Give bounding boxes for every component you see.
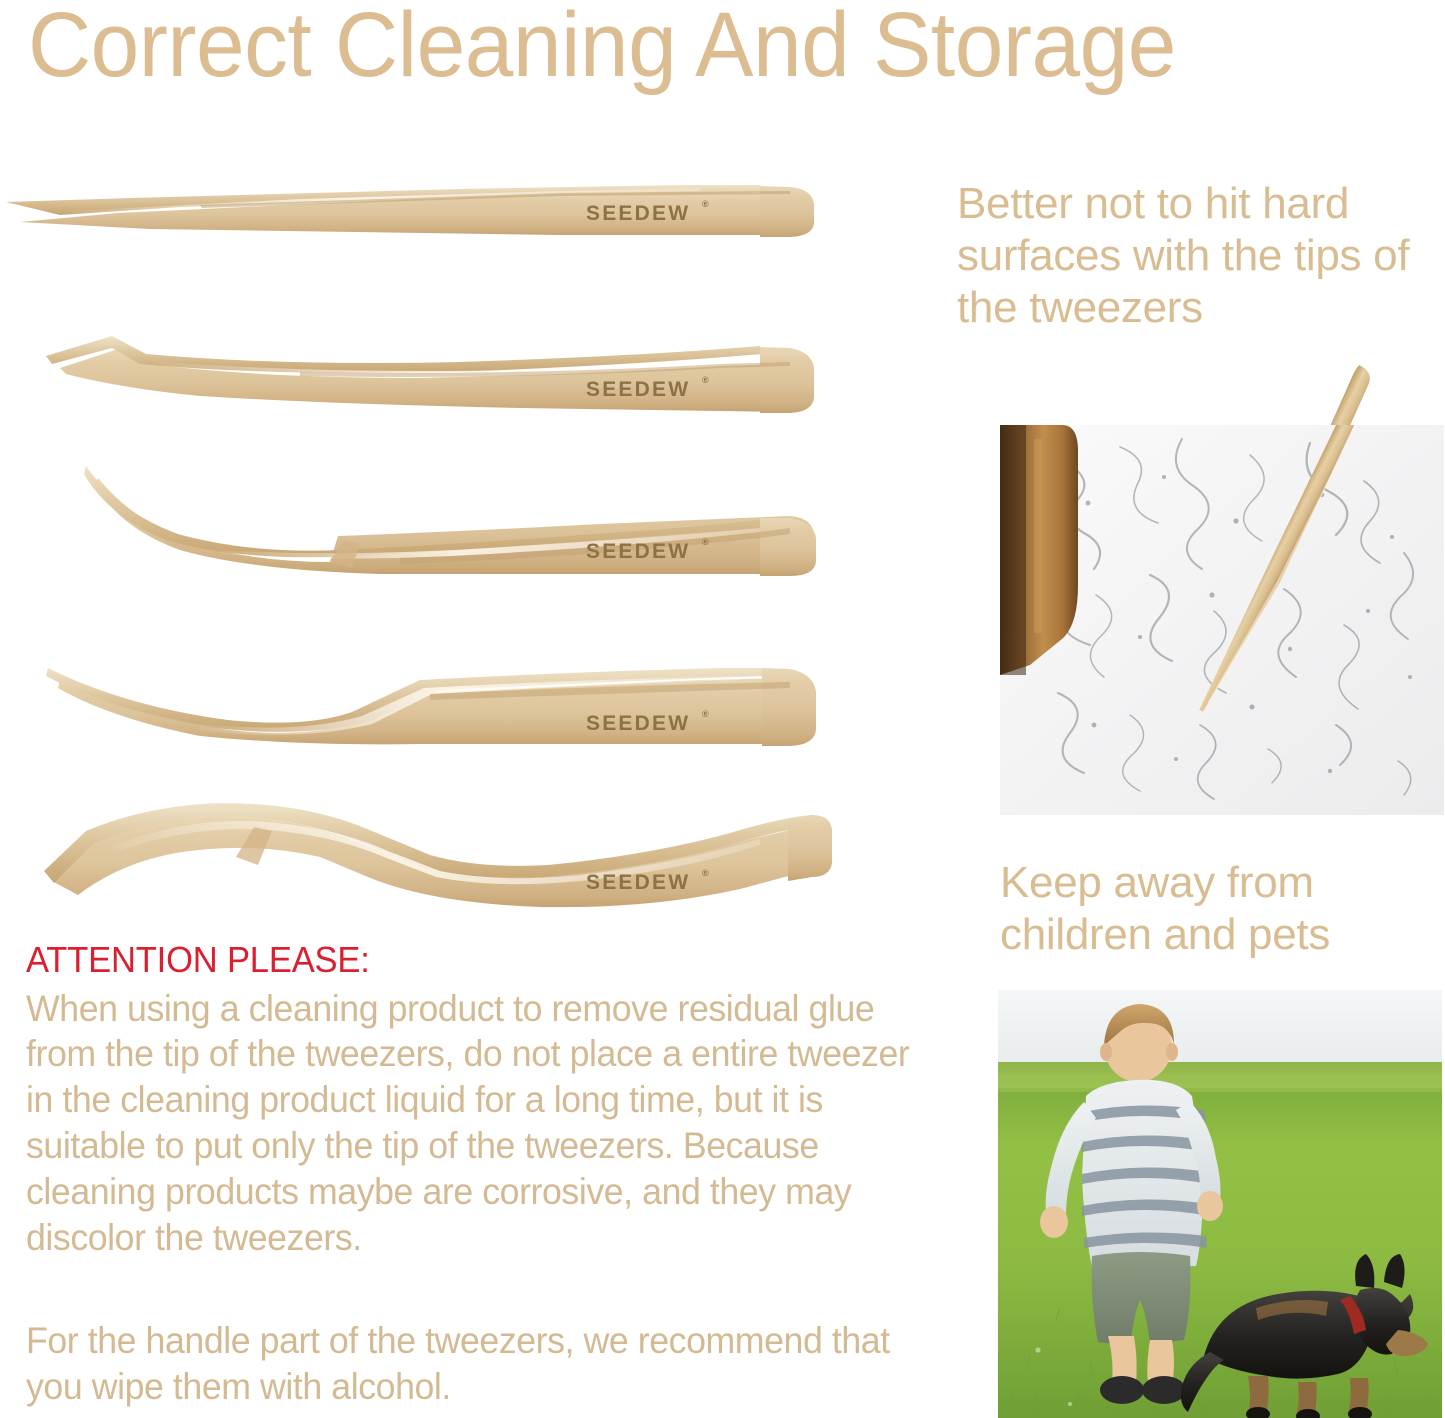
child-shoe-left xyxy=(1100,1376,1144,1404)
brand-engraving: SEEDEW xyxy=(586,540,690,563)
registered-symbol: ® xyxy=(702,375,709,385)
child-shoe-right xyxy=(1142,1376,1186,1404)
page-title: Correct Cleaning And Storage xyxy=(28,0,1377,95)
tweezer-angled: SEEDEW ® xyxy=(0,318,860,418)
tweezer-straight: SEEDEW ® xyxy=(0,180,860,250)
closing-note: For the handle part of the tweezers, we … xyxy=(26,1318,943,1410)
tweezer-handle-end xyxy=(760,347,814,413)
registered-symbol: ® xyxy=(702,709,709,719)
tweezer-handle-end xyxy=(762,668,816,746)
tweezer-handle-end xyxy=(788,815,832,881)
child-ear-left xyxy=(1100,1043,1112,1061)
child-and-dog-photo xyxy=(998,990,1442,1418)
tweezer-boot: SEEDEW ® xyxy=(0,785,860,905)
attention-block: ATTENTION PLEASE: When using a cleaning … xyxy=(26,940,976,1261)
tweezer-on-marble-photo xyxy=(1000,425,1444,815)
tweezer-curved: SEEDEW ® xyxy=(0,650,860,760)
brand-engraving: SEEDEW xyxy=(586,871,690,894)
infographic-page: Correct Cleaning And Storage xyxy=(0,0,1445,1418)
horizon-blend xyxy=(998,1074,1442,1092)
tweezer-handle-end xyxy=(760,518,816,576)
tweezer-curved-hook: SEEDEW ® xyxy=(0,458,860,583)
tweezer-lineup: SEEDEW ® SEEDEW ® xyxy=(0,160,940,920)
brand-engraving: SEEDEW xyxy=(586,712,690,735)
callout-hard-surfaces: Better not to hit hard surfaces with the… xyxy=(957,178,1445,334)
registered-symbol: ® xyxy=(702,868,709,878)
registered-symbol: ® xyxy=(702,199,709,209)
attention-body: When using a cleaning product to remove … xyxy=(26,986,943,1261)
attention-heading: ATTENTION PLEASE: xyxy=(26,940,938,980)
brand-engraving: SEEDEW xyxy=(586,378,690,401)
child-hand-right xyxy=(1197,1191,1223,1221)
child-ear-right xyxy=(1166,1043,1178,1061)
brand-engraving: SEEDEW xyxy=(586,202,690,225)
registered-symbol: ® xyxy=(702,537,709,547)
child-hand-left xyxy=(1040,1206,1068,1238)
callout-children-pets: Keep away from children and pets xyxy=(1000,857,1445,961)
